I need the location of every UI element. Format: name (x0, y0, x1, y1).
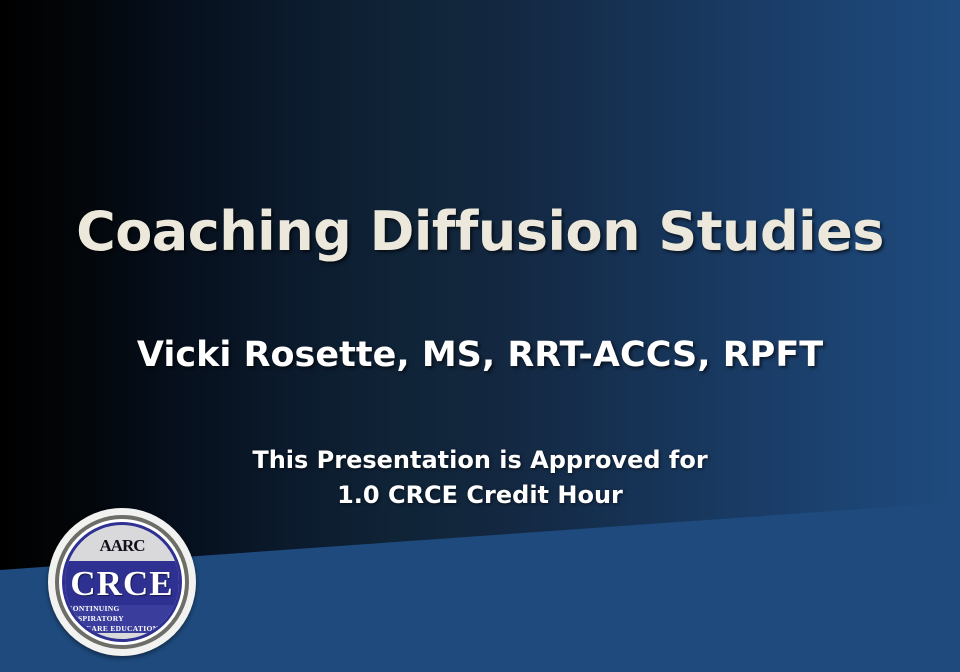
seal-subtitle-line-1: CONTINUING RESPIRATORY (67, 604, 177, 624)
seal-crce-text: CRCE (70, 566, 173, 601)
seal-aarc-text: AARC (65, 536, 179, 556)
presentation-slide: Coaching Diffusion Studies Vicki Rosette… (0, 0, 960, 672)
seal-main-band: CRCE (62, 561, 182, 605)
approval-line-1: This Presentation is Approved for (0, 443, 960, 478)
presenter-name: Vicki Rosette, MS, RRT-ACCS, RPFT (0, 336, 960, 375)
approval-statement: This Presentation is Approved for 1.0 CR… (0, 443, 960, 513)
seal-face: AARC CRCE CONTINUING RESPIRATORY CARE ED… (62, 522, 182, 642)
slide-title: Coaching Diffusion Studies (0, 204, 960, 261)
seal-subtitle-band: CONTINUING RESPIRATORY CARE EDUCATION (67, 605, 177, 633)
crce-logo: AARC CRCE CONTINUING RESPIRATORY CARE ED… (48, 508, 196, 656)
seal-subtitle-line-2: CARE EDUCATION (86, 624, 159, 634)
